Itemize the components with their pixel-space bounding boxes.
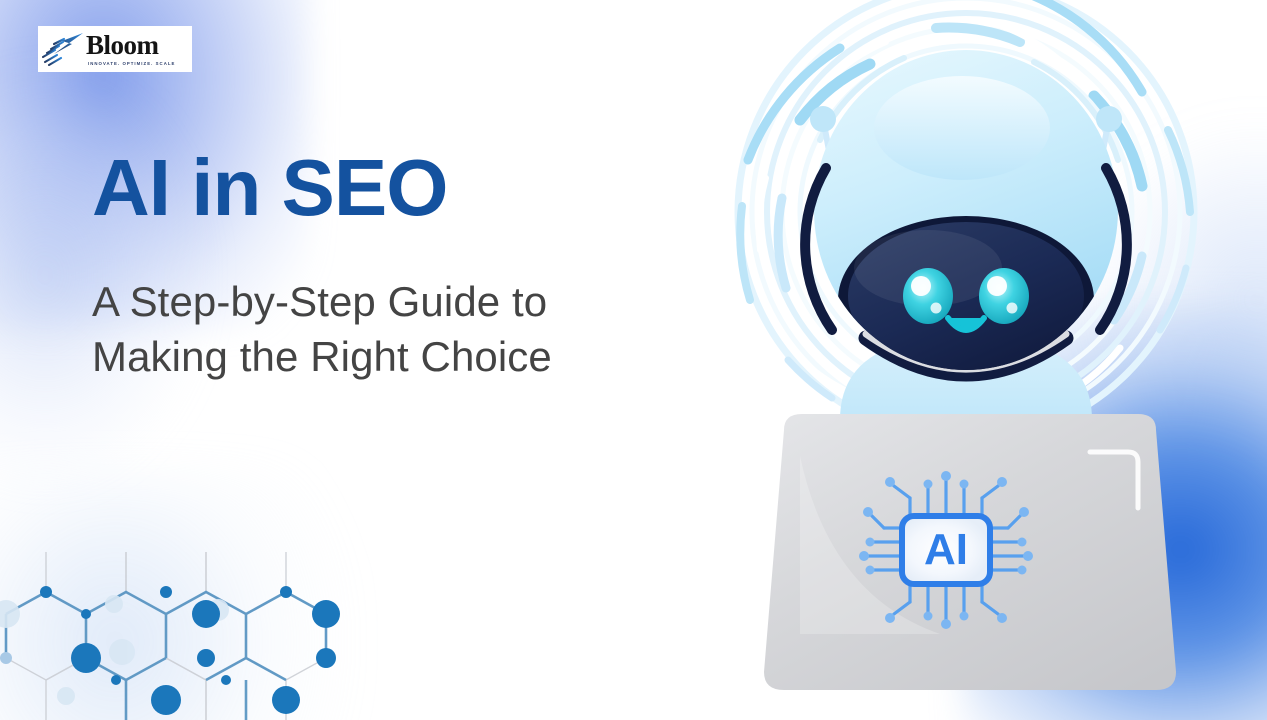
- robot-dome-highlight: [874, 76, 1050, 180]
- logo-wordmark-group: Bloom INNOVATE. OPTIMIZE. SCALE: [86, 32, 175, 66]
- bloom-arrow-icon: [42, 32, 84, 66]
- headline-block: AI in SEO A Step-by-Step Guide to Making…: [92, 148, 652, 385]
- page-subtitle: A Step-by-Step Guide to Making the Right…: [92, 274, 632, 385]
- hexagon-network-svg: [0, 552, 344, 720]
- logo-wordmark: Bloom: [86, 32, 175, 59]
- hex-nodes: [0, 586, 340, 715]
- brand-logo[interactable]: Bloom INNOVATE. OPTIMIZE. SCALE: [38, 26, 192, 72]
- logo-tagline: INNOVATE. OPTIMIZE. SCALE: [88, 62, 175, 66]
- page-title: AI in SEO: [92, 148, 652, 228]
- chip-label: AI: [924, 525, 968, 574]
- hexagon-network-decoration: [0, 552, 344, 720]
- slide-canvas: AI: [0, 0, 1267, 720]
- ai-robot-illustration: AI: [690, 0, 1267, 720]
- robot-laptop-svg: AI: [690, 0, 1267, 720]
